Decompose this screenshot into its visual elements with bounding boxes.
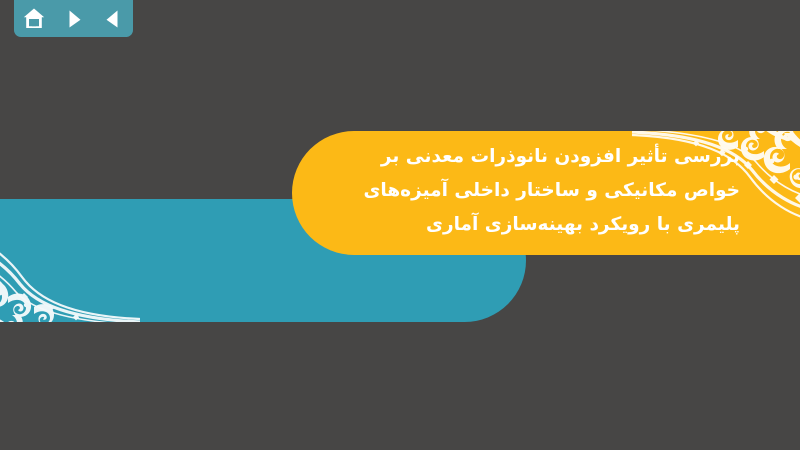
navigation-bar — [14, 0, 133, 37]
title-line-3: پلیمری با رویکرد بهینه‌سازی آماری — [340, 208, 740, 242]
back-button[interactable] — [100, 6, 126, 32]
title-line-1: بررسی تأثیر افزودن نانوذرات معدنی بر — [340, 140, 740, 174]
home-icon — [22, 7, 46, 31]
slide-title: بررسی تأثیر افزودن نانوذرات معدنی بر خوا… — [340, 140, 740, 242]
triangle-right-icon — [63, 8, 85, 30]
triangle-left-icon — [102, 8, 124, 30]
title-line-2: خواص مکانیکی و ساختار داخلی آمیزه‌های — [340, 174, 740, 208]
forward-button[interactable] — [61, 6, 87, 32]
title-panel: بررسی تأثیر افزودن نانوذرات معدنی بر خوا… — [292, 131, 800, 255]
home-button[interactable] — [21, 6, 47, 32]
arabesque-corner-ornament — [0, 199, 140, 322]
presentation-slide: بررسی تأثیر افزودن نانوذرات معدنی بر خوا… — [0, 0, 800, 450]
